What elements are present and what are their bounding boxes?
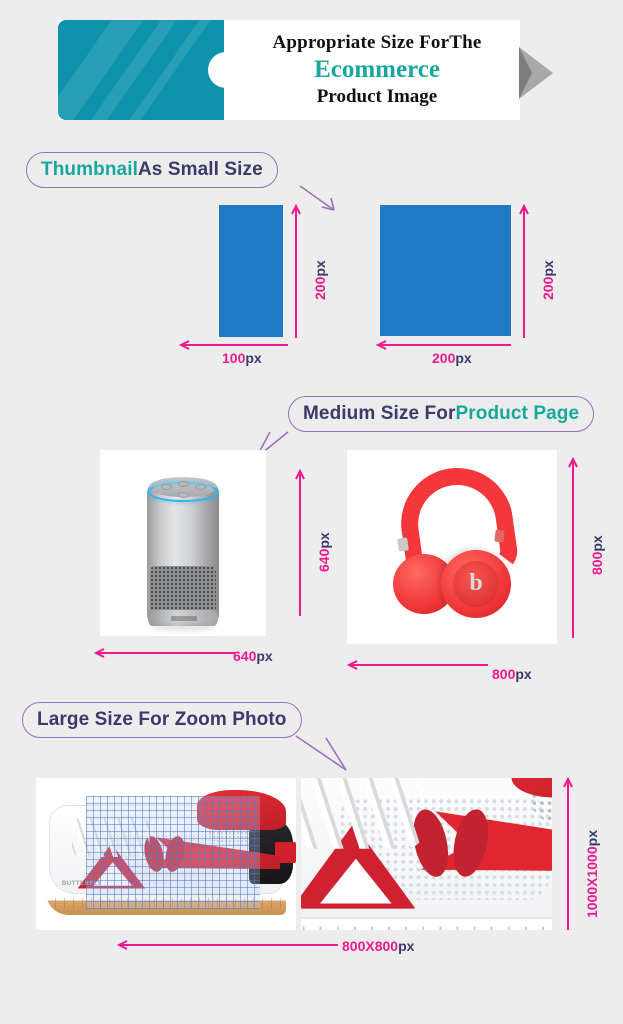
dim-arrow-vertical-200b: [519, 205, 529, 338]
page-title: Appropriate Size ForThe Ecommerce Produc…: [234, 20, 520, 120]
dim-label-200b: 200px: [540, 260, 556, 300]
dim-arrow-horizontal-800: [348, 660, 490, 670]
headphones-earcup-right: b: [441, 550, 511, 618]
title-line-1: Appropriate Size ForThe: [272, 32, 481, 54]
dim-arrow-horizontal-200: [377, 340, 513, 350]
headphones-slider-left: [397, 537, 409, 551]
section-label-thumbnail: Thumbnail As Small Size: [26, 152, 278, 188]
dim-number: 800: [589, 552, 605, 575]
dim-unit: px: [584, 830, 600, 846]
dim-label-800-width: 800px: [492, 666, 532, 682]
sneaker-zoomed-illustration: [301, 778, 552, 930]
butterfly-logo-icon: [145, 836, 184, 872]
dim-arrow-vertical-800: [568, 458, 578, 638]
speaker-grille: [150, 566, 216, 616]
speaker-button: [178, 481, 189, 487]
dim-unit: px: [589, 535, 605, 551]
title-line-3: Product Image: [317, 86, 438, 108]
dim-number: 800X800: [342, 938, 398, 954]
speaker-button: [195, 484, 206, 490]
dim-label-100: 100px: [222, 350, 262, 366]
dim-unit: px: [256, 648, 272, 664]
label-medium-secondary: Product Page: [455, 403, 579, 425]
dim-number: 100: [222, 350, 245, 366]
butterfly-logo-icon: [415, 808, 487, 877]
product-photo-headphones: b: [347, 450, 557, 644]
dim-unit: px: [316, 532, 332, 548]
dim-number: 200: [540, 277, 556, 300]
speaker-brand-logo: [171, 616, 197, 621]
label-large-primary: Large Size For Zoom Photo: [37, 709, 287, 731]
dim-number: 1000X1000: [584, 846, 600, 918]
product-photo-smart-speaker: [100, 450, 266, 636]
dim-label-640-width: 640px: [233, 648, 273, 664]
dim-arrow-vertical-1000: [563, 778, 573, 930]
dim-label-800-height: 800px: [589, 535, 605, 575]
headphones-illustration: b: [383, 468, 528, 623]
sneaker-toecap: [197, 790, 285, 830]
label-medium-primary: Medium Size For: [303, 403, 455, 425]
bubble-tail-thumbnail: [300, 186, 340, 212]
dim-number: 640: [316, 549, 332, 572]
dim-number: 800: [492, 666, 515, 682]
banner-tag-shape: [58, 20, 224, 120]
dim-label-640-height: 640px: [316, 532, 332, 572]
smart-speaker-illustration: [147, 474, 219, 624]
thumbnail-portrait-box: [219, 205, 283, 337]
bubble-tail-large: [296, 736, 352, 774]
dim-unit: px: [515, 666, 531, 682]
dim-number: 200: [432, 350, 455, 366]
title-line-2: Ecommerce: [314, 55, 440, 85]
dim-unit: px: [455, 350, 471, 366]
sneaker-illustration: BUTTERFLY: [36, 778, 296, 930]
sneaker-laces: [72, 818, 150, 858]
dim-arrow-horizontal-640: [95, 648, 237, 658]
label-thumbnail-secondary: As Small Size: [138, 159, 263, 181]
product-photo-sneaker-wide: BUTTERFLY: [36, 778, 296, 930]
dim-unit: px: [540, 260, 556, 276]
right-arrow-fold-icon: [519, 47, 532, 99]
dim-label-200a: 200px: [312, 260, 328, 300]
header-banner: Appropriate Size ForThe Ecommerce Produc…: [58, 20, 520, 120]
speaker-shadow: [151, 624, 215, 631]
sneaker-laces: [301, 778, 425, 849]
section-label-large: Large Size For Zoom Photo: [22, 702, 302, 738]
sneaker-brand-text: BUTTERFLY: [62, 881, 102, 887]
dim-number: 640: [233, 648, 256, 664]
dim-number: 200: [312, 277, 328, 300]
dim-label-1000: 1000X1000px: [584, 830, 600, 918]
dim-label-200-width: 200px: [432, 350, 472, 366]
infographic-page: Appropriate Size ForThe Ecommerce Produc…: [0, 0, 623, 1024]
label-thumbnail-primary: Thumbnail: [41, 159, 138, 181]
thumbnail-square-box: [380, 205, 511, 336]
dim-arrow-horizontal-800x800: [118, 940, 340, 950]
headphones-slider-right: [494, 530, 504, 543]
dim-arrow-vertical-640: [295, 470, 305, 616]
dim-unit: px: [312, 260, 328, 276]
beats-logo-icon: b: [465, 572, 487, 596]
dim-unit: px: [398, 938, 414, 954]
speaker-button: [161, 484, 172, 490]
dim-arrow-vertical-200a: [291, 205, 301, 338]
section-label-medium: Medium Size For Product Page: [288, 396, 594, 432]
dim-label-800x800: 800X800px: [342, 938, 414, 954]
dim-unit: px: [245, 350, 261, 366]
dim-arrow-horizontal-100: [180, 340, 290, 350]
product-photo-sneaker-zoom: [301, 778, 552, 930]
speaker-button: [178, 492, 189, 498]
